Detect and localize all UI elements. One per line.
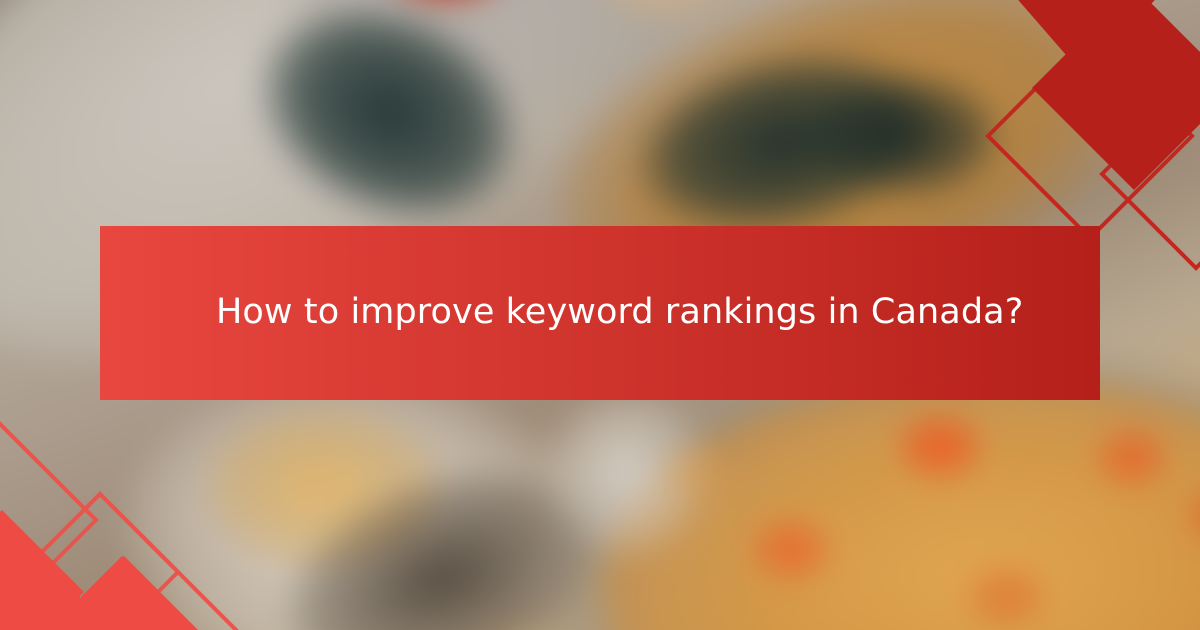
- background-pizza-topping: [666, 450, 719, 488]
- background-pizza-topping: [1102, 435, 1161, 480]
- title-banner: How to improve keyword rankings in Canad…: [100, 226, 1100, 400]
- background-utensil-three: [811, 75, 996, 195]
- page-title: How to improve keyword rankings in Canad…: [216, 291, 1023, 335]
- background-pizza-topping: [904, 420, 977, 473]
- background-pizza-topping: [758, 525, 824, 574]
- social-preview-card: How to improve keyword rankings in Canad…: [0, 0, 1200, 630]
- background-pizza-topping: [970, 570, 1043, 623]
